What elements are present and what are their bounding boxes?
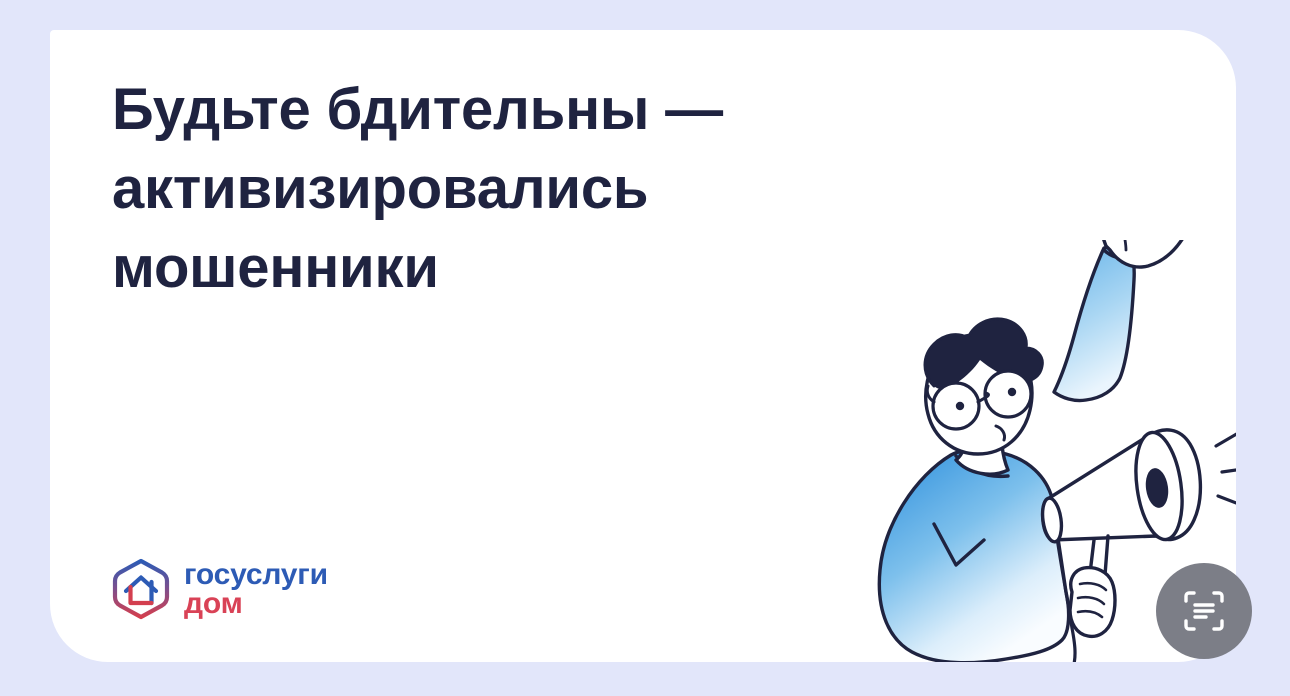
logo-wordmark: госуслуги дом [184, 560, 328, 618]
logo-line-dom: дом [184, 589, 328, 618]
gosuslugi-dom-logo: госуслуги дом [112, 558, 328, 620]
content-card: Будьте бдительны — активизировались моше… [50, 30, 1236, 662]
page-title: Будьте бдительны — активизировались моше… [112, 70, 932, 307]
logo-line-gosuslugi: госуслуги [184, 560, 328, 589]
scan-text-icon [1182, 589, 1226, 633]
scan-text-button[interactable] [1156, 563, 1252, 659]
house-in-hexagon-icon [112, 558, 170, 620]
